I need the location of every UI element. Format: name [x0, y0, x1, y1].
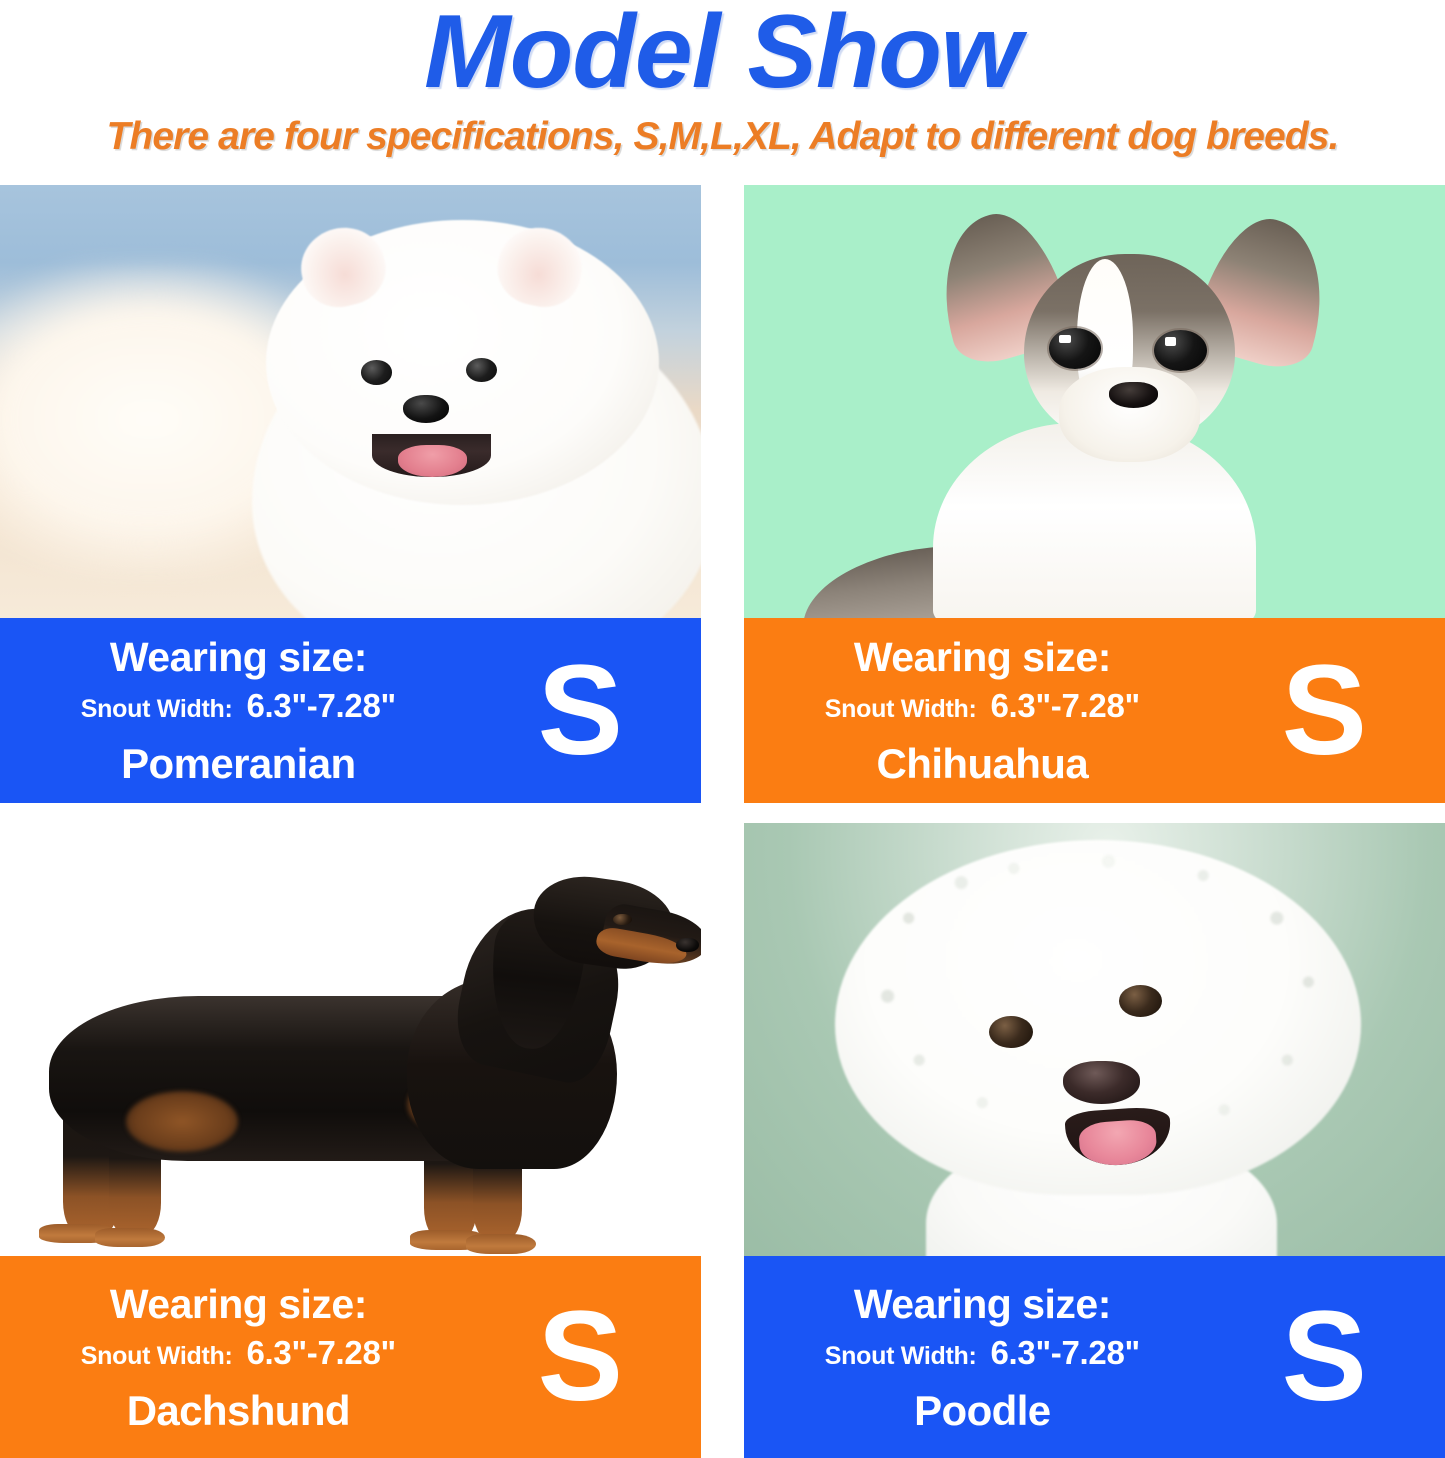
snout-width-label: Snout Width: — [825, 1342, 977, 1370]
dog-paw-front-right — [466, 1234, 536, 1253]
dog-eye-left — [1049, 328, 1102, 369]
eye-glint — [1165, 337, 1177, 345]
snout-width-row: Snout Width:6.3"-7.28" — [825, 1334, 1140, 1383]
snout-width-row: Snout Width:6.3"-7.28" — [825, 687, 1140, 736]
wearing-size-label: Wearing size: — [110, 633, 367, 681]
size-label-bar: Wearing size: Snout Width:6.3"-7.28" Pom… — [0, 618, 701, 803]
snout-width-label: Snout Width: — [81, 695, 233, 723]
breed-card-chihuahua[interactable]: Wearing size: Snout Width:6.3"-7.28" Chi… — [744, 185, 1445, 803]
snout-width-label: Snout Width: — [81, 1342, 233, 1370]
dog-nose — [676, 938, 698, 953]
breed-name: Poodle — [914, 1387, 1050, 1435]
dog-eye-right — [1154, 330, 1207, 371]
eye-glint — [1059, 335, 1071, 343]
size-label-bar: Wearing size: Snout Width:6.3"-7.28" Chi… — [744, 618, 1445, 803]
size-label-bar: Wearing size: Snout Width:6.3"-7.28" Dac… — [0, 1256, 701, 1458]
page-title: Model Show — [0, 2, 1445, 102]
size-label-bar: Wearing size: Snout Width:6.3"-7.28" Poo… — [744, 1256, 1445, 1458]
size-letter-badge: S — [1282, 1297, 1367, 1417]
snout-width-row: Snout Width:6.3"-7.28" — [81, 1334, 396, 1383]
snout-width-label: Snout Width: — [825, 695, 977, 723]
pomeranian-photo — [0, 185, 701, 618]
size-label-text-group: Wearing size: Snout Width:6.3"-7.28" Pom… — [0, 618, 477, 803]
wearing-size-label: Wearing size: — [854, 1280, 1111, 1328]
breed-card-pomeranian[interactable]: Wearing size: Snout Width:6.3"-7.28" Pom… — [0, 185, 701, 803]
size-label-text-group: Wearing size: Snout Width:6.3"-7.28" Dac… — [0, 1256, 477, 1458]
breed-card-grid: Wearing size: Snout Width:6.3"-7.28" Pom… — [0, 185, 1445, 1458]
header-banner: Model Show There are four specifications… — [0, 0, 1445, 185]
size-letter-badge: S — [538, 1297, 623, 1417]
size-label-text-group: Wearing size: Snout Width:6.3"-7.28" Poo… — [744, 1256, 1221, 1458]
snout-width-value: 6.3"-7.28" — [990, 687, 1139, 724]
dog-tan-marking-hind — [126, 1091, 238, 1152]
size-letter-badge: S — [1282, 651, 1367, 771]
chihuahua-photo — [744, 185, 1445, 618]
wearing-size-label: Wearing size: — [854, 633, 1111, 681]
dog-nose — [1109, 382, 1158, 408]
breed-name: Pomeranian — [121, 740, 355, 788]
dog-mouth — [372, 434, 491, 477]
poodle-photo — [744, 823, 1445, 1256]
breed-card-poodle[interactable]: Wearing size: Snout Width:6.3"-7.28" Poo… — [744, 823, 1445, 1458]
dog-eye — [613, 914, 631, 925]
dog-nose — [403, 395, 449, 423]
snout-width-row: Snout Width:6.3"-7.28" — [81, 687, 396, 736]
breed-card-dachshund[interactable]: Wearing size: Snout Width:6.3"-7.28" Dac… — [0, 823, 701, 1458]
dog-eye-left — [989, 1016, 1032, 1048]
breed-name: Chihuahua — [877, 740, 1089, 788]
snout-width-value: 6.3"-7.28" — [246, 687, 395, 724]
dachshund-photo — [0, 823, 701, 1256]
page-subtitle: There are four specifications, S,M,L,XL,… — [0, 114, 1445, 160]
snout-width-value: 6.3"-7.28" — [246, 1334, 395, 1371]
dog-tongue — [398, 445, 467, 477]
dog-eye-left — [361, 360, 392, 384]
breed-name: Dachshund — [127, 1387, 350, 1435]
snout-width-value: 6.3"-7.28" — [990, 1334, 1139, 1371]
dog-paw-back-right — [95, 1228, 165, 1247]
size-label-text-group: Wearing size: Snout Width:6.3"-7.28" Chi… — [744, 618, 1221, 803]
size-letter-badge: S — [538, 651, 623, 771]
wearing-size-label: Wearing size: — [110, 1280, 367, 1328]
